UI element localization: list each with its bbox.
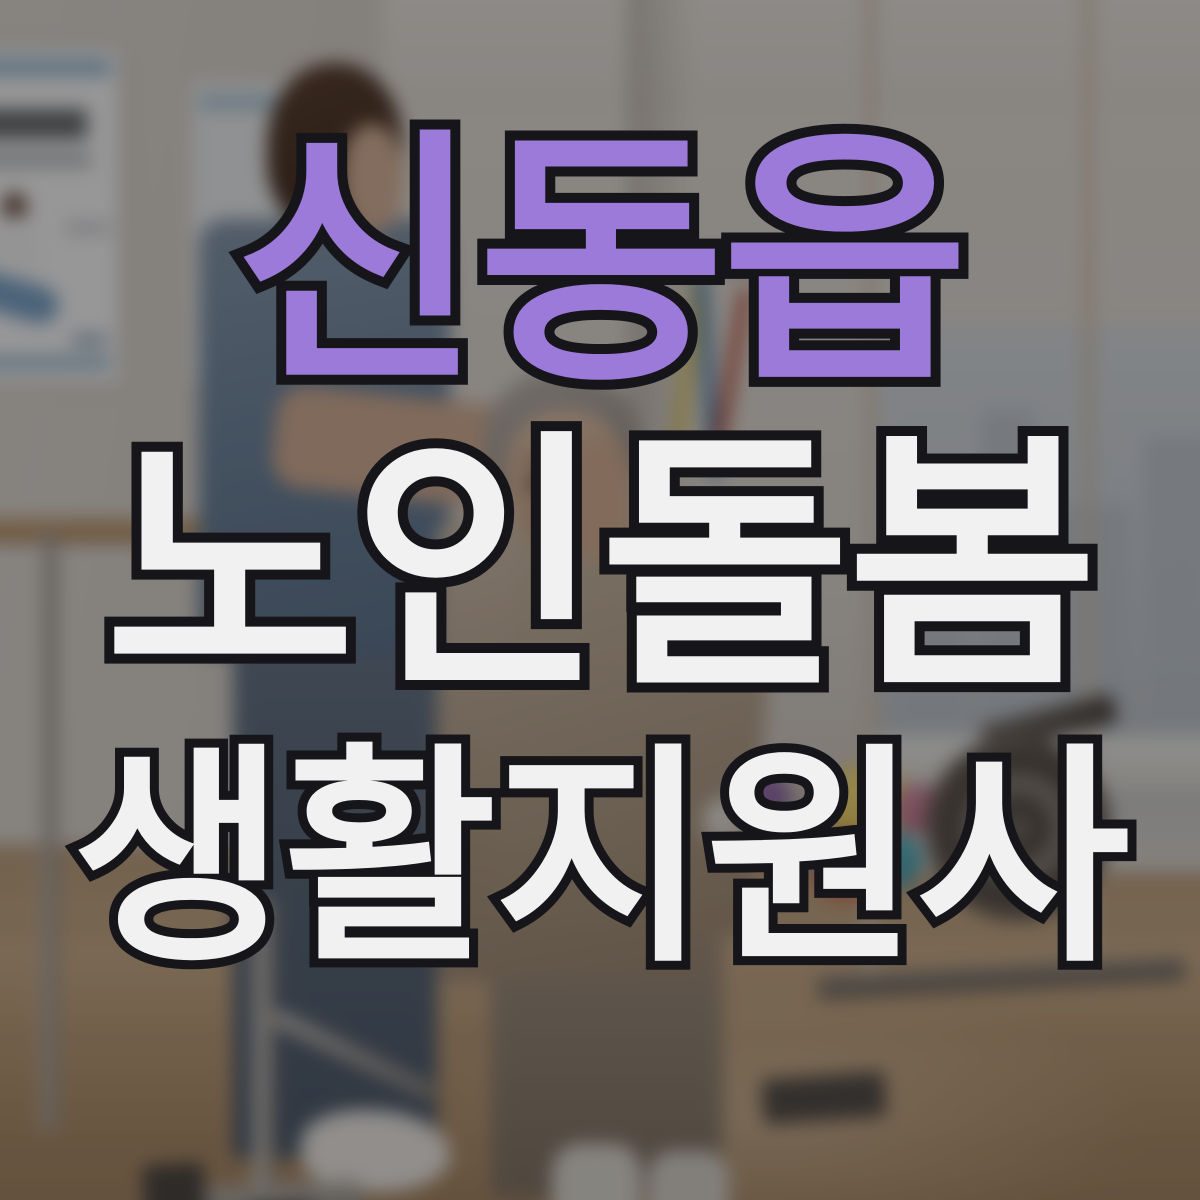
headline-line-region: 신동읍	[234, 128, 966, 396]
headline-text-block: 신동읍 노인돌봄 생활지원사	[0, 0, 1200, 1200]
headline-line-program: 노인돌봄	[105, 430, 1095, 702]
poster-image: 신동읍 노인돌봄 생활지원사	[0, 0, 1200, 1200]
headline-line-job-title: 생활지원사	[72, 744, 1128, 976]
